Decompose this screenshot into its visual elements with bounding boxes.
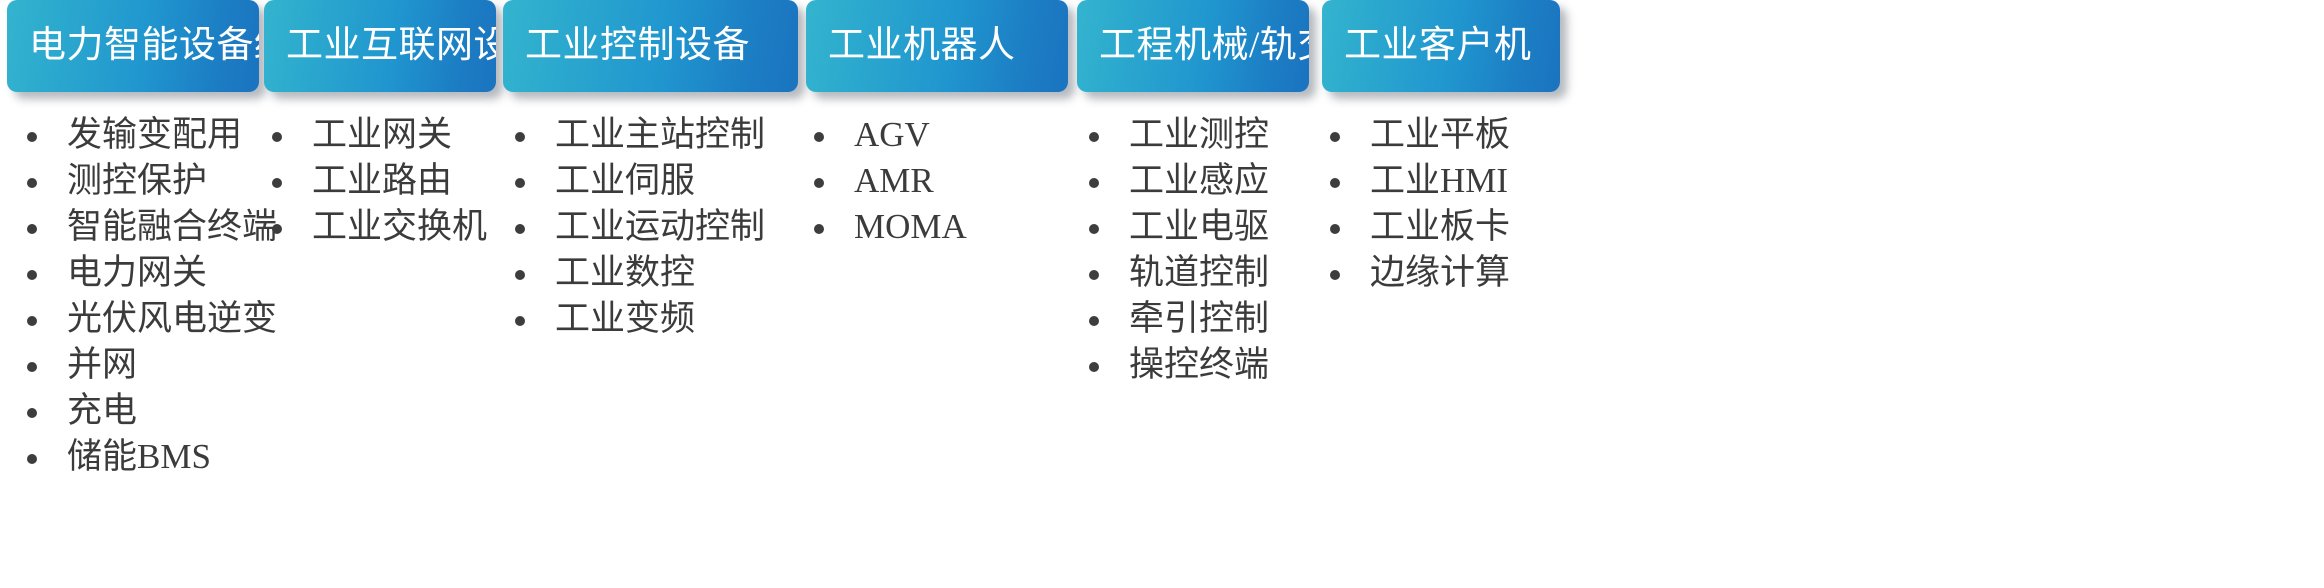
list-item-label: 工业感应 <box>1129 160 1269 202</box>
list-item: 并网 <box>27 344 259 386</box>
list-item-label: AGV <box>854 114 930 156</box>
list-item-label: 发输变配用 <box>67 114 242 156</box>
list-item: 工业运动控制 <box>515 206 798 248</box>
bullet-dot-icon <box>1089 178 1099 188</box>
list-item: 轨道控制 <box>1089 252 1309 294</box>
list-item: 工业变频 <box>515 298 798 340</box>
bullet-dot-icon <box>1089 224 1099 234</box>
category-header-1[interactable]: 工业互联网设备 <box>264 0 496 92</box>
bullet-dot-icon <box>1330 132 1340 142</box>
category-title-5: 工业客户机 <box>1322 26 1542 67</box>
list-item-label: 工业平板 <box>1370 114 1510 156</box>
category-title-3: 工业机器人 <box>806 26 1026 67</box>
bullet-dot-icon <box>27 316 37 326</box>
list-item: 工业平板 <box>1330 114 1560 156</box>
list-item-label: 充电 <box>67 390 137 432</box>
list-item: 测控保护 <box>27 160 259 202</box>
category-header-3[interactable]: 工业机器人 <box>806 0 1068 92</box>
bullet-dot-icon <box>515 178 525 188</box>
list-item-label: 工业电驱 <box>1129 206 1269 248</box>
list-item-label: 工业运动控制 <box>555 206 765 248</box>
bullet-dot-icon <box>1330 224 1340 234</box>
bullet-dot-icon <box>814 178 824 188</box>
bullet-dot-icon <box>272 224 282 234</box>
list-item: 边缘计算 <box>1330 252 1560 294</box>
category-items-3: AGV AMR MOMA <box>806 114 1068 248</box>
list-item: 光伏风电逆变 <box>27 298 259 340</box>
category-items-1: 工业网关 工业路由 工业交换机 <box>264 114 496 248</box>
list-item-label: 工业路由 <box>312 160 452 202</box>
list-item: 工业数控 <box>515 252 798 294</box>
category-title-2: 工业控制设备 <box>503 26 760 67</box>
category-column-2: 工业控制设备 工业主站控制 工业伺服 工业运动控制 工业数控 <box>503 0 798 344</box>
list-item: 充电 <box>27 390 259 432</box>
list-item-label: 智能融合终端 <box>67 206 277 248</box>
bullet-dot-icon <box>1089 362 1099 372</box>
list-item-label: AMR <box>854 160 934 202</box>
list-item-label: 工业测控 <box>1129 114 1269 156</box>
category-header-4[interactable]: 工程机械/轨交 <box>1077 0 1309 92</box>
bullet-dot-icon <box>515 132 525 142</box>
list-item: 智能融合终端 <box>27 206 259 248</box>
list-item-label: 工业HMI <box>1370 160 1508 202</box>
list-item: 牵引控制 <box>1089 298 1309 340</box>
bullet-dot-icon <box>27 224 37 234</box>
list-item: 工业主站控制 <box>515 114 798 156</box>
list-item: AMR <box>814 160 1068 202</box>
list-item-label: 测控保护 <box>67 160 207 202</box>
list-item: 工业伺服 <box>515 160 798 202</box>
category-title-4: 工程机械/轨交 <box>1077 26 1309 67</box>
list-item: 发输变配用 <box>27 114 259 156</box>
list-item: 工业网关 <box>272 114 496 156</box>
bullet-dot-icon <box>515 316 525 326</box>
list-item-label: 操控终端 <box>1129 344 1269 386</box>
category-column-4: 工程机械/轨交 工业测控 工业感应 工业电驱 轨道控制 <box>1077 0 1309 390</box>
bullet-dot-icon <box>272 132 282 142</box>
list-item-label: 电力网关 <box>67 252 207 294</box>
list-item-label: 工业主站控制 <box>555 114 765 156</box>
category-column-3: 工业机器人 AGV AMR MOMA <box>806 0 1068 252</box>
list-item-label: 储能BMS <box>67 436 211 478</box>
list-item-label: 边缘计算 <box>1370 252 1510 294</box>
category-title-0: 电力智能设备终端 <box>7 26 259 67</box>
bullet-dot-icon <box>1330 178 1340 188</box>
list-item-label: 工业板卡 <box>1370 206 1510 248</box>
list-item: AGV <box>814 114 1068 156</box>
list-item: 操控终端 <box>1089 344 1309 386</box>
category-column-0: 电力智能设备终端 发输变配用 测控保护 智能融合终端 电力网关 <box>7 0 259 482</box>
category-column-5: 工业客户机 工业平板 工业HMI 工业板卡 边缘计算 <box>1322 0 1560 298</box>
category-items-5: 工业平板 工业HMI 工业板卡 边缘计算 <box>1322 114 1560 294</box>
list-item: 工业测控 <box>1089 114 1309 156</box>
bullet-dot-icon <box>814 132 824 142</box>
bullet-dot-icon <box>27 132 37 142</box>
category-title-1: 工业互联网设备 <box>264 26 496 67</box>
bullet-dot-icon <box>515 270 525 280</box>
bullet-dot-icon <box>1330 270 1340 280</box>
list-item: 储能BMS <box>27 436 259 478</box>
category-items-0: 发输变配用 测控保护 智能融合终端 电力网关 光伏风电逆变 <box>7 114 259 478</box>
category-items-2: 工业主站控制 工业伺服 工业运动控制 工业数控 工业变频 <box>503 114 798 340</box>
list-item: 工业板卡 <box>1330 206 1560 248</box>
list-item: 工业路由 <box>272 160 496 202</box>
category-board: 电力智能设备终端 发输变配用 测控保护 智能融合终端 电力网关 <box>0 0 2324 588</box>
category-items-4: 工业测控 工业感应 工业电驱 轨道控制 牵引控制 <box>1077 114 1309 386</box>
category-column-1: 工业互联网设备 工业网关 工业路由 工业交换机 <box>264 0 496 252</box>
list-item-label: 工业伺服 <box>555 160 695 202</box>
list-item-label: 工业数控 <box>555 252 695 294</box>
list-item: 工业HMI <box>1330 160 1560 202</box>
category-header-5[interactable]: 工业客户机 <box>1322 0 1560 92</box>
list-item: 工业电驱 <box>1089 206 1309 248</box>
category-header-0[interactable]: 电力智能设备终端 <box>7 0 259 92</box>
bullet-dot-icon <box>272 178 282 188</box>
bullet-dot-icon <box>27 270 37 280</box>
bullet-dot-icon <box>27 454 37 464</box>
list-item-label: 工业变频 <box>555 298 695 340</box>
list-item: 电力网关 <box>27 252 259 294</box>
bullet-dot-icon <box>27 408 37 418</box>
list-item-label: 并网 <box>67 344 137 386</box>
bullet-dot-icon <box>1089 316 1099 326</box>
bullet-dot-icon <box>27 362 37 372</box>
list-item: 工业感应 <box>1089 160 1309 202</box>
bullet-dot-icon <box>1089 270 1099 280</box>
list-item-label: MOMA <box>854 206 967 248</box>
bullet-dot-icon <box>1089 132 1099 142</box>
category-header-2[interactable]: 工业控制设备 <box>503 0 798 92</box>
list-item-label: 轨道控制 <box>1129 252 1269 294</box>
list-item: MOMA <box>814 206 1068 248</box>
bullet-dot-icon <box>515 224 525 234</box>
list-item-label: 牵引控制 <box>1129 298 1269 340</box>
list-item-label: 工业交换机 <box>312 206 487 248</box>
list-item: 工业交换机 <box>272 206 496 248</box>
bullet-dot-icon <box>27 178 37 188</box>
list-item-label: 工业网关 <box>312 114 452 156</box>
bullet-dot-icon <box>814 224 824 234</box>
list-item-label: 光伏风电逆变 <box>67 298 277 340</box>
